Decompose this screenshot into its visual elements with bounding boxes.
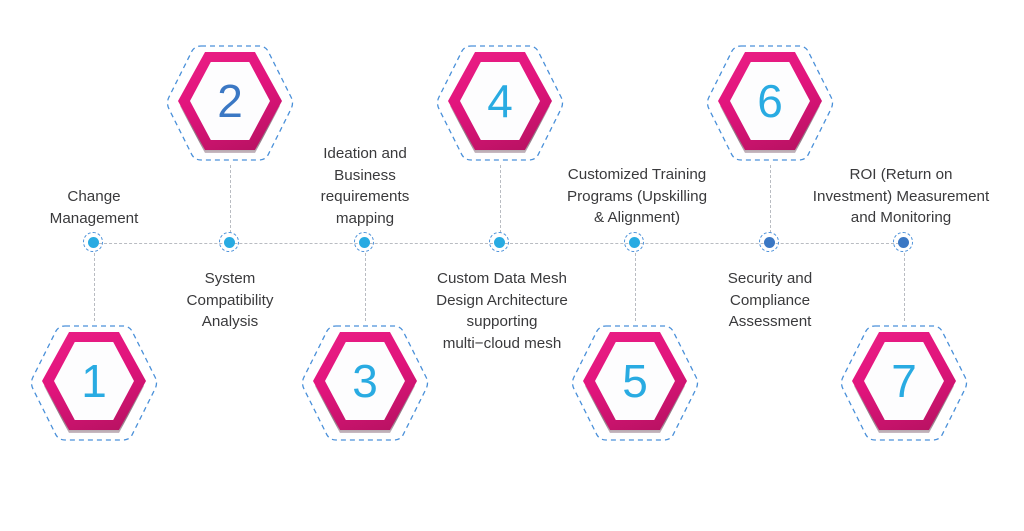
dot-core — [88, 237, 99, 248]
step-number-7: 7 — [852, 332, 956, 430]
step-hexagon-5[interactable]: 5 — [569, 321, 701, 445]
step-number-6: 6 — [718, 52, 822, 150]
dot-core — [764, 237, 775, 248]
step-label-1: Change Management — [0, 186, 189, 229]
connector-stem-2 — [230, 165, 231, 233]
dot-core — [359, 237, 370, 248]
timeline-dot-7[interactable] — [893, 232, 915, 254]
step-hexagon-7[interactable]: 7 — [838, 321, 970, 445]
step-label-3: Ideation and Business requirements mappi… — [270, 143, 460, 229]
timeline-dot-4[interactable] — [489, 232, 511, 254]
connector-stem-6 — [770, 165, 771, 233]
step-number-5: 5 — [583, 332, 687, 430]
connector-stem-1 — [94, 253, 95, 321]
connector-stem-3 — [365, 253, 366, 321]
step-hexagon-4[interactable]: 4 — [434, 41, 566, 165]
timeline-dot-5[interactable] — [624, 232, 646, 254]
step-number-1: 1 — [42, 332, 146, 430]
step-label-7: ROI (Return on Investment) Measurement a… — [776, 164, 1024, 229]
connector-stem-5 — [635, 253, 636, 321]
step-hexagon-1[interactable]: 1 — [28, 321, 160, 445]
connector-stem-4 — [500, 165, 501, 233]
step-label-6: Security and Compliance Assessment — [675, 268, 865, 333]
step-number-4: 4 — [448, 52, 552, 150]
dot-core — [629, 237, 640, 248]
step-label-5: Customized Training Programs (Upskilling… — [530, 164, 745, 229]
connector-stem-7 — [904, 253, 905, 321]
step-label-2: System Compatibility Analysis — [135, 268, 325, 333]
timeline-diagram: 1Change Management2System Compatibility … — [0, 0, 1024, 531]
timeline-dot-6[interactable] — [759, 232, 781, 254]
dot-core — [494, 237, 505, 248]
step-hexagon-6[interactable]: 6 — [704, 41, 836, 165]
timeline-dot-3[interactable] — [354, 232, 376, 254]
dot-core — [898, 237, 909, 248]
timeline-dot-1[interactable] — [83, 232, 105, 254]
timeline-dot-2[interactable] — [219, 232, 241, 254]
step-number-2: 2 — [178, 52, 282, 150]
dot-core — [224, 237, 235, 248]
